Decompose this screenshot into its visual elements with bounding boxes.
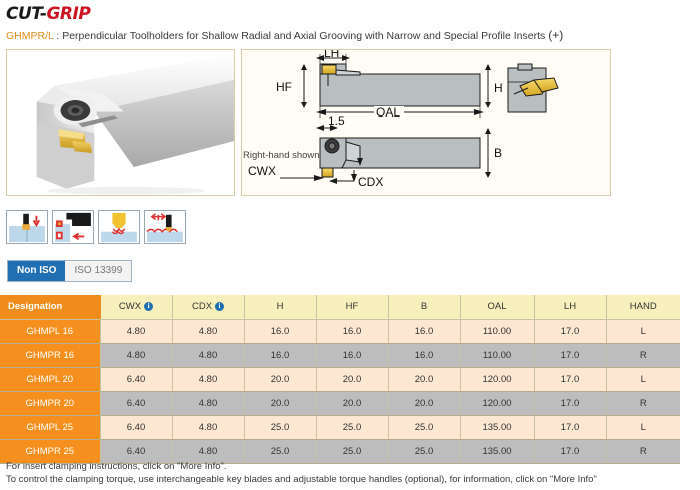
cell-hand: L: [606, 319, 680, 343]
cell-oal: 120.00: [460, 367, 534, 391]
radial-grooving-icon[interactable]: [6, 210, 48, 244]
cell-h: 16.0: [244, 319, 316, 343]
cell-hf: 16.0: [316, 343, 388, 367]
cell-b: 20.0: [388, 367, 460, 391]
cell-b: 25.0: [388, 415, 460, 439]
cell-hf: 20.0: [316, 367, 388, 391]
cell-oal: 110.00: [460, 343, 534, 367]
cell-oal: 110.00: [460, 319, 534, 343]
table-row[interactable]: GHMPL 256.404.8025.025.025.0135.0017.0L: [0, 415, 680, 439]
column-header-oal: OAL: [460, 295, 534, 319]
cell-lh: 17.0: [534, 391, 606, 415]
cell-cwx: 6.40: [100, 415, 172, 439]
cell-designation[interactable]: GHMPR 16: [0, 343, 100, 367]
cell-lh: 17.0: [534, 319, 606, 343]
profile-grooving-icon[interactable]: [98, 210, 140, 244]
label-h: H: [494, 81, 503, 95]
label-hf: HF: [276, 80, 292, 94]
cell-h: 20.0: [244, 391, 316, 415]
cell-cdx: 4.80: [172, 319, 244, 343]
cell-cdx: 4.80: [172, 343, 244, 367]
axial-grooving-icon[interactable]: [52, 210, 94, 244]
cell-designation[interactable]: GHMPL 25: [0, 415, 100, 439]
title-description: Perpendicular Toolholders for Shallow Ra…: [62, 30, 545, 42]
column-header-h: H: [244, 295, 316, 319]
cell-oal: 135.00: [460, 439, 534, 463]
label-b: B: [494, 146, 502, 160]
column-label-cdx: CDX: [192, 301, 212, 312]
product-photo-panel: [6, 49, 235, 196]
cell-designation[interactable]: GHMPR 20: [0, 391, 100, 415]
label-cdx: CDX: [358, 175, 383, 189]
iso-standard-toggle[interactable]: Non ISO ISO 13399: [7, 260, 132, 282]
table-row[interactable]: GHMPR 256.404.8025.025.025.0135.0017.0R: [0, 439, 680, 463]
cell-hand: L: [606, 367, 680, 391]
label-insert-width: 1.5: [328, 114, 345, 128]
column-header-designation: Designation: [0, 295, 100, 319]
specifications-table: Designation CWXi CDXi H HF B OAL LH HAND…: [0, 295, 680, 464]
footer-line-1: For insert clamping instructions, click …: [6, 461, 597, 474]
cell-h: 20.0: [244, 367, 316, 391]
column-header-hand: HAND: [606, 295, 680, 319]
cell-hand: R: [606, 391, 680, 415]
cell-cwx: 6.40: [100, 439, 172, 463]
cell-cdx: 4.80: [172, 391, 244, 415]
cell-h: 16.0: [244, 343, 316, 367]
footer-line-2: To control the clamping torque, use inte…: [6, 474, 597, 487]
info-icon-cdx[interactable]: i: [215, 302, 224, 311]
logo-cut-text: CUT: [6, 4, 40, 24]
cell-hf: 25.0: [316, 439, 388, 463]
column-header-b: B: [388, 295, 460, 319]
table-row[interactable]: GHMPL 164.804.8016.016.016.0110.0017.0L: [0, 319, 680, 343]
technical-drawing-panel: LH HF H OAL B 1.5 CWX CDX OAL: [241, 49, 611, 196]
cell-designation[interactable]: GHMPL 20: [0, 367, 100, 391]
cell-b: 16.0: [388, 343, 460, 367]
cell-cdx: 4.80: [172, 415, 244, 439]
cell-hf: 20.0: [316, 391, 388, 415]
cell-cwx: 4.80: [100, 343, 172, 367]
cell-cwx: 4.80: [100, 319, 172, 343]
cell-hand: R: [606, 343, 680, 367]
cell-h: 25.0: [244, 415, 316, 439]
cell-h: 25.0: [244, 439, 316, 463]
table-row[interactable]: GHMPR 164.804.8016.016.016.0110.0017.0R: [0, 343, 680, 367]
cell-b: 25.0: [388, 439, 460, 463]
cell-designation[interactable]: GHMPL 16: [0, 319, 100, 343]
toggle-iso-13399[interactable]: ISO 13399: [65, 261, 131, 281]
label-cwx: CWX: [248, 164, 276, 178]
table-row[interactable]: GHMPR 206.404.8020.020.020.0120.0017.0R: [0, 391, 680, 415]
cell-cdx: 4.80: [172, 439, 244, 463]
cell-cwx: 6.40: [100, 391, 172, 415]
cell-cdx: 4.80: [172, 367, 244, 391]
cell-lh: 17.0: [534, 415, 606, 439]
column-label-cwx: CWX: [119, 301, 141, 312]
cell-hf: 16.0: [316, 319, 388, 343]
cell-oal: 135.00: [460, 415, 534, 439]
cell-oal: 120.00: [460, 391, 534, 415]
cell-cwx: 6.40: [100, 367, 172, 391]
cell-hand: L: [606, 415, 680, 439]
info-icon-cwx[interactable]: i: [144, 302, 153, 311]
page-title: GHMPR/L : Perpendicular Toolholders for …: [0, 26, 700, 49]
toggle-non-iso[interactable]: Non ISO: [8, 261, 65, 281]
cell-hand: R: [606, 439, 680, 463]
cell-lh: 17.0: [534, 343, 606, 367]
cell-hf: 25.0: [316, 415, 388, 439]
brand-logo: CUT-GRIP: [0, 0, 700, 26]
label-lh: LH: [324, 50, 339, 60]
cell-b: 16.0: [388, 319, 460, 343]
figure-caption: Right-hand shown: [243, 150, 320, 161]
turning-grooving-icon[interactable]: [144, 210, 186, 244]
table-row[interactable]: GHMPL 206.404.8020.020.020.0120.0017.0L: [0, 367, 680, 391]
cell-designation[interactable]: GHMPR 25: [0, 439, 100, 463]
svg-text:OAL: OAL: [376, 105, 400, 119]
column-header-cwx: CWXi: [100, 295, 172, 319]
column-header-lh: LH: [534, 295, 606, 319]
toolholder-3d-render: [7, 50, 234, 196]
footer-notes: For insert clamping instructions, click …: [6, 461, 597, 486]
figures-area: LH HF H OAL B 1.5 CWX CDX OAL: [0, 49, 700, 201]
product-code: GHMPR/L: [6, 30, 53, 42]
dimension-drawing: LH HF H OAL B 1.5 CWX CDX OAL: [242, 50, 611, 196]
logo-grip-text: GRIP: [46, 4, 90, 24]
column-header-hf: HF: [316, 295, 388, 319]
table-header-row: Designation CWXi CDXi H HF B OAL LH HAND: [0, 295, 680, 319]
cell-lh: 17.0: [534, 367, 606, 391]
title-separator: :: [53, 30, 62, 42]
operation-icons: [6, 210, 186, 244]
column-header-cdx: CDXi: [172, 295, 244, 319]
cell-lh: 17.0: [534, 439, 606, 463]
expand-plus-icon[interactable]: (+): [548, 28, 563, 42]
cell-b: 20.0: [388, 391, 460, 415]
